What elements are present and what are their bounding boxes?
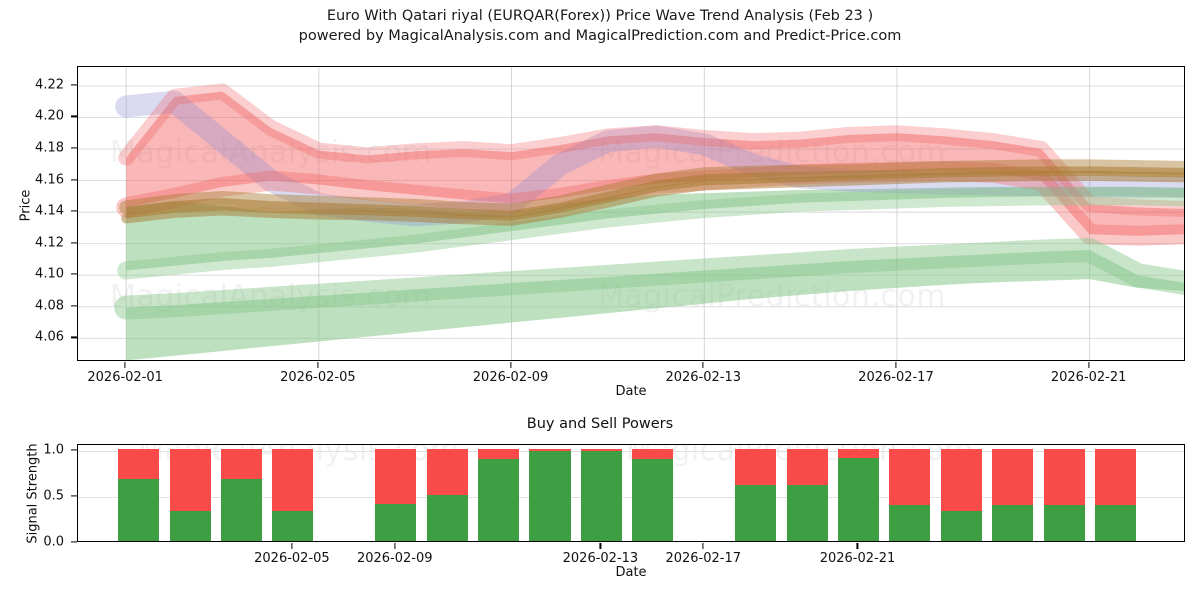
signal-axis-x-labels: 2026-02-052026-02-092026-02-132026-02-17… (77, 543, 1185, 565)
price-axis-y-labels: 4.064.084.104.124.144.164.184.204.22 (0, 66, 72, 361)
signal-bar-sell-segment (375, 449, 416, 504)
price-y-tick-label: 4.22 (35, 77, 64, 92)
signal-x-tick-label: 2026-02-05 (254, 551, 330, 566)
signal-bar[interactable] (170, 449, 211, 541)
signal-bar[interactable] (838, 449, 879, 541)
signal-bar[interactable] (941, 449, 982, 541)
price-x-tick-label: 2026-02-05 (280, 370, 356, 385)
signal-y-tick-label: 0.5 (43, 488, 64, 503)
signal-bar-sell-segment (735, 449, 776, 485)
signal-x-tick-label: 2026-02-09 (357, 551, 433, 566)
signal-bar[interactable] (1044, 449, 1085, 541)
signal-bar-buy-segment (170, 511, 211, 542)
signal-bar-buy-segment (118, 479, 159, 541)
price-x-tick (895, 362, 896, 368)
signal-y-tick-label: 1.0 (43, 442, 64, 457)
signal-x-tick (291, 543, 292, 549)
price-plot-area: MagicalAnalysis.com MagicalPrediction.co… (77, 66, 1185, 361)
signal-x-tick (600, 543, 601, 549)
price-x-tick (1088, 362, 1089, 368)
price-x-tick-label: 2026-02-13 (665, 370, 741, 385)
signal-bar-sell-segment (889, 449, 930, 505)
signal-bar-sell-segment (272, 449, 313, 511)
price-y-tick-label: 4.12 (35, 235, 64, 250)
signal-bar-buy-segment (838, 458, 879, 541)
price-x-tick (510, 362, 511, 368)
signal-bar-sell-segment (427, 449, 468, 495)
price-wave-trend-chart: MagicalAnalysis.com MagicalPrediction.co… (77, 66, 1185, 361)
signal-bar[interactable] (735, 449, 776, 541)
signal-bar[interactable] (632, 449, 673, 541)
signal-bar-buy-segment (581, 451, 622, 541)
signal-bar-sell-segment (838, 449, 879, 458)
price-x-tick-label: 2026-02-01 (87, 370, 163, 385)
price-y-tick-label: 4.20 (35, 109, 64, 124)
signal-x-tick-label: 2026-02-13 (563, 551, 639, 566)
signal-x-tick (703, 543, 704, 549)
price-y-tick-label: 4.16 (35, 172, 64, 187)
signal-bar-buy-segment (375, 504, 416, 541)
price-axis-x-labels: 2026-02-012026-02-052026-02-092026-02-13… (77, 362, 1185, 384)
signal-bar[interactable] (889, 449, 930, 541)
signal-bar-buy-segment (632, 459, 673, 541)
signal-bar-buy-segment (1044, 505, 1085, 541)
signal-bar-buy-segment (941, 511, 982, 541)
signal-bar[interactable] (1095, 449, 1136, 541)
signal-bar-sell-segment (632, 449, 673, 459)
signal-x-tick-label: 2026-02-21 (820, 551, 896, 566)
price-x-tick (703, 362, 704, 368)
price-y-tick-label: 4.18 (35, 141, 64, 156)
price-y-tick-label: 4.08 (35, 298, 64, 313)
signal-bar[interactable] (478, 449, 519, 541)
signal-bar[interactable] (221, 449, 262, 541)
signal-bar[interactable] (992, 449, 1033, 541)
price-y-tick-label: 4.10 (35, 267, 64, 282)
signal-bar-buy-segment (1095, 505, 1136, 541)
signal-bar-buy-segment (735, 485, 776, 541)
price-x-tick-label: 2026-02-21 (1051, 370, 1127, 385)
signal-bar-buy-segment (427, 495, 468, 541)
signal-bar-sell-segment (1044, 449, 1085, 505)
signal-bar-sell-segment (170, 449, 211, 511)
signal-bar-sell-segment (221, 449, 262, 480)
signal-bar[interactable] (581, 449, 622, 541)
signal-bar[interactable] (118, 449, 159, 541)
signal-x-tick (394, 543, 395, 549)
signal-bar-buy-segment (221, 479, 262, 541)
signal-axis-x-title: Date (615, 565, 646, 580)
title-line-1: Euro With Qatari riyal (EURQAR(Forex)) P… (0, 6, 1200, 26)
price-y-tick-label: 4.06 (35, 330, 64, 345)
signal-bar-buy-segment (272, 511, 313, 542)
signal-bar-sell-segment (1095, 449, 1136, 505)
buy-sell-powers-chart: MagicalAnalysis.com MagicalPrediction.co… (77, 444, 1185, 542)
signal-bar-sell-segment (787, 449, 828, 485)
signal-bar-sell-segment (992, 449, 1033, 505)
price-x-tick-label: 2026-02-09 (473, 370, 549, 385)
signal-bar-sell-segment (118, 449, 159, 480)
signal-chart-title: Buy and Sell Powers (0, 416, 1200, 432)
signal-bar[interactable] (375, 449, 416, 541)
signal-x-tick (857, 543, 858, 549)
price-y-tick-label: 4.14 (35, 204, 64, 219)
signal-bar-buy-segment (478, 459, 519, 541)
price-axis-x-title: Date (615, 384, 646, 399)
page-title: Euro With Qatari riyal (EURQAR(Forex)) P… (0, 6, 1200, 46)
signal-bar-buy-segment (529, 451, 570, 541)
signal-bar-buy-segment (889, 505, 930, 541)
price-x-tick (317, 362, 318, 368)
price-x-tick-label: 2026-02-17 (858, 370, 934, 385)
price-bands-svg (78, 67, 1185, 361)
signal-x-tick-label: 2026-02-17 (665, 551, 741, 566)
signal-plot-area: MagicalAnalysis.com MagicalPrediction.co… (77, 444, 1185, 542)
signal-bar[interactable] (427, 449, 468, 541)
signal-bar-buy-segment (992, 505, 1033, 541)
signal-bar[interactable] (787, 449, 828, 541)
signal-axis-y-labels: 0.00.51.0 (0, 444, 72, 542)
title-line-2: powered by MagicalAnalysis.com and Magic… (0, 26, 1200, 46)
signal-bar[interactable] (529, 449, 570, 541)
price-x-tick (125, 362, 126, 368)
signal-y-tick-label: 0.0 (43, 535, 64, 550)
signal-bar-buy-segment (787, 485, 828, 541)
signal-bar-sell-segment (941, 449, 982, 512)
signal-bar[interactable] (272, 449, 313, 541)
signal-bar-sell-segment (478, 449, 519, 459)
